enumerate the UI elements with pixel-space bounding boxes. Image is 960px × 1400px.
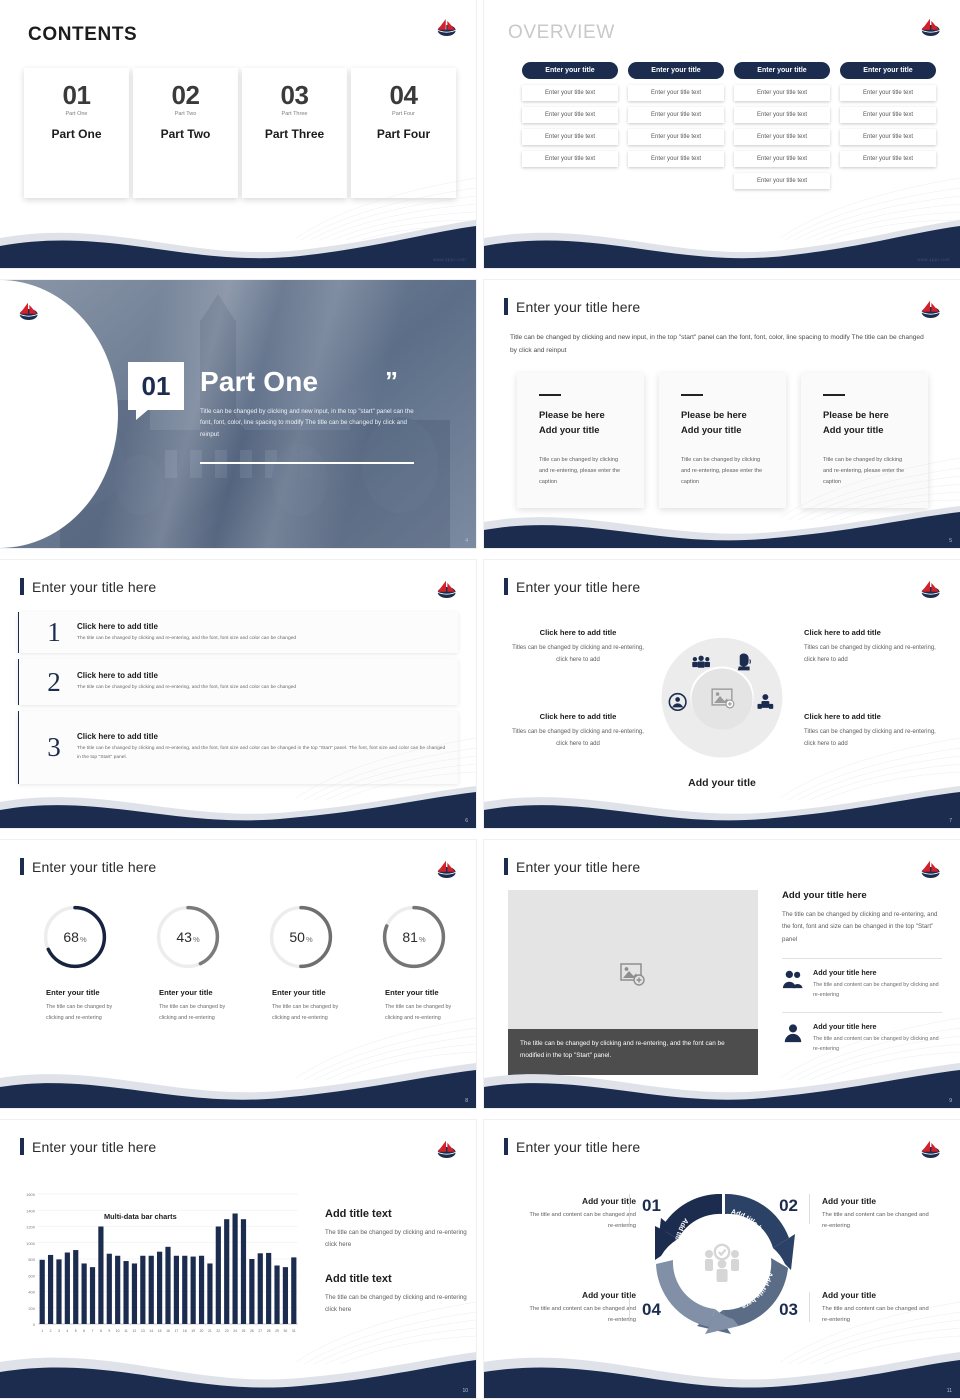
title-text: Enter your title here (32, 859, 156, 875)
x-axis-tick: 28 (267, 1329, 271, 1333)
part-description: Title can be changed by clicking and new… (200, 406, 416, 440)
x-axis-tick: 16 (166, 1329, 170, 1333)
x-axis-tick: 2 (50, 1329, 52, 1333)
sailing-ship-logo-icon (916, 16, 944, 38)
progress-ring: 50% (266, 902, 336, 972)
title-text: Enter your title here (516, 1139, 640, 1155)
title-text: Enter your title here (516, 299, 640, 315)
x-axis-tick: 5 (75, 1329, 77, 1333)
image-placeholder[interactable]: The title can be changed by clicking and… (508, 890, 758, 1075)
overview-column: Enter your title Enter your title text E… (628, 62, 724, 189)
bar (174, 1256, 179, 1324)
block-heading: Click here to add title (804, 628, 936, 637)
card-heading-1: Please be here (681, 408, 764, 423)
column-title-pill[interactable]: Enter your title (628, 62, 724, 79)
overview-item[interactable]: Enter your title text (522, 129, 618, 145)
item-desc: The title can be changed by clicking and… (77, 684, 446, 693)
title-text: Enter your title here (516, 859, 640, 875)
title-text: Enter your title here (32, 1139, 156, 1155)
card-subtitle: Part One (24, 111, 129, 117)
card-label: Part Two (133, 127, 238, 141)
title-text: Enter your title here (516, 579, 640, 595)
slide-numbered-list: Enter your title here 1 Click here to ad… (0, 560, 476, 828)
divider (629, 1292, 630, 1322)
gauge-value: 81% (379, 902, 449, 972)
y-axis-tick: 200 (28, 1306, 35, 1311)
bar (140, 1256, 145, 1324)
gauge-value: 50% (266, 902, 336, 972)
x-axis-tick: 23 (225, 1329, 229, 1333)
contents-card[interactable]: 04 Part Four Part Four (351, 68, 456, 198)
side-heading: Add title text (325, 1273, 471, 1285)
info-card[interactable]: Please be here Add your title Title can … (517, 373, 644, 508)
sailing-ship-logo-icon (432, 1138, 460, 1160)
bar (48, 1255, 53, 1324)
overview-item[interactable]: Enter your title text (840, 151, 936, 167)
overview-item[interactable]: Enter your title text (734, 151, 830, 167)
dash-icon (539, 394, 561, 396)
feature-item[interactable]: Add your title here The title and conten… (782, 1022, 942, 1054)
bar (40, 1260, 45, 1324)
gauge-cell[interactable]: 81% Enter your title The title can be ch… (361, 902, 467, 1023)
side-body: The title can be changed by clicking and… (325, 1292, 471, 1317)
feature-title: Add your title here (813, 1022, 942, 1031)
sailing-ship-logo-icon (916, 578, 944, 600)
y-axis-tick: 1000 (26, 1241, 36, 1246)
part-title: Part One (200, 366, 318, 398)
column-title-pill[interactable]: Enter your title (522, 62, 618, 79)
wave-decoration (0, 212, 476, 268)
page-number: 7 (949, 818, 952, 824)
block-body: Titles can be changed by clicking and re… (512, 642, 644, 667)
block-heading: Click here to add title (804, 712, 936, 721)
block-body: Titles can be changed by clicking and re… (804, 726, 936, 751)
cycle-number: 02 (779, 1196, 798, 1216)
bar (132, 1263, 137, 1324)
gauge-desc: The title can be changed by clicking and… (361, 1002, 467, 1023)
wave-decoration (0, 1346, 476, 1398)
page-number: 10 (462, 1388, 468, 1394)
right-panel: Add your title here The title can be cha… (782, 890, 942, 1054)
divider (809, 1292, 810, 1322)
gauge-value: 43% (153, 902, 223, 972)
bar (56, 1259, 61, 1324)
bar (123, 1261, 128, 1324)
x-axis-tick: 10 (116, 1329, 120, 1333)
overview-item[interactable]: Enter your title text (734, 129, 830, 145)
two-people-icon (782, 968, 804, 990)
progress-ring: 43% (153, 902, 223, 972)
wave-decoration (484, 502, 960, 548)
page-number: 11 (947, 1388, 952, 1394)
cycle-number: 04 (642, 1300, 661, 1320)
x-axis-tick: 4 (66, 1329, 68, 1333)
card-heading-2: Add your title (539, 423, 622, 438)
contents-card-list: 01 Part One Part One 02 Part Two Part Tw… (24, 68, 456, 198)
contents-card[interactable]: 03 Part Three Part Three (242, 68, 347, 198)
page-title: Enter your title here (504, 858, 640, 875)
bar (82, 1263, 87, 1324)
sailing-ship-logo-icon (916, 1138, 944, 1160)
card-label: Part One (24, 127, 129, 141)
bar (224, 1219, 229, 1324)
item-title: Click here to add title (77, 732, 446, 741)
overview-item[interactable]: Enter your title text (628, 85, 724, 101)
overview-item[interactable]: Enter your title text (734, 173, 830, 189)
item-desc: The title can be changed by clicking and… (77, 745, 446, 763)
x-axis-tick: 15 (158, 1329, 162, 1333)
page-title: Enter your title here (504, 1138, 640, 1155)
bar (149, 1256, 154, 1324)
card-number: 02 (133, 82, 238, 108)
x-axis-tick: 29 (275, 1329, 279, 1333)
card-label: Part Three (242, 127, 347, 141)
title-accent-bar (20, 578, 24, 595)
slide-percent-gauges: Enter your title here 68% Enter your tit… (0, 840, 476, 1108)
item-number: 2 (31, 669, 77, 696)
page-title: Enter your title here (20, 578, 156, 595)
gauge-heading: Enter your title (248, 988, 354, 997)
gauge-cell[interactable]: 50% Enter your title The title can be ch… (248, 902, 354, 1023)
feature-desc: The title and content can be changed by … (813, 980, 942, 1000)
card-number: 01 (24, 82, 129, 108)
bar (258, 1253, 263, 1324)
card-heading-2: Add your title (681, 423, 764, 438)
divider-rule (200, 462, 414, 464)
list-container: 1 Click here to add title The title can … (18, 612, 458, 790)
x-axis-tick: 21 (208, 1329, 212, 1333)
bar (241, 1219, 246, 1324)
single-person-icon (782, 1022, 804, 1044)
slide-deck: CONTENTS 01 Part One Part One 02 Part Tw… (0, 0, 960, 1400)
block-heading: Add your title (822, 1290, 934, 1300)
page-title: Enter your title here (20, 1138, 156, 1155)
overview-grid: Enter your title Enter your title text E… (522, 62, 936, 189)
gauge-cell[interactable]: 43% Enter your title The title can be ch… (135, 902, 241, 1023)
bar (107, 1254, 112, 1324)
page-title: CONTENTS (28, 24, 137, 46)
donut-text-block[interactable]: Click here to add title Titles can be ch… (512, 628, 644, 667)
bar (199, 1256, 204, 1324)
overview-item[interactable]: Enter your title text (628, 129, 724, 145)
overview-item[interactable]: Enter your title text (522, 151, 618, 167)
feature-title: Add your title here (813, 968, 942, 977)
bar (283, 1267, 288, 1324)
slide-arrow-cycle: Enter your title here (484, 1120, 960, 1398)
slide-bar-chart: Enter your title here Multi-data bar cha… (0, 1120, 476, 1398)
title-accent-bar (20, 858, 24, 875)
wave-decoration (484, 212, 960, 268)
side-heading: Add title text (325, 1208, 471, 1220)
y-axis-tick: 400 (28, 1290, 35, 1295)
feature-item[interactable]: Add your title here The title and conten… (782, 968, 942, 1000)
sailing-ship-logo-icon (14, 300, 42, 322)
block-heading: Add your title (822, 1196, 934, 1206)
x-axis-tick: 3 (58, 1329, 60, 1333)
item-title: Click here to add title (77, 671, 446, 680)
list-item[interactable]: 3 Click here to add title The title can … (18, 711, 458, 784)
block-body: The title and content can be changed and… (822, 1304, 934, 1326)
overview-item[interactable]: Enter your title text (628, 151, 724, 167)
divider (629, 1194, 630, 1224)
bar (65, 1253, 70, 1325)
page-title: OVERVIEW (508, 22, 615, 44)
block-heading: Click here to add title (512, 628, 644, 637)
block-body: The title and content can be changed and… (524, 1304, 636, 1326)
x-axis-tick: 25 (242, 1329, 246, 1333)
slide-image-text: Enter your title here The title can be c… (484, 840, 960, 1108)
overview-item[interactable]: Enter your title text (734, 107, 830, 123)
image-placeholder-icon (620, 962, 646, 988)
card-list: Please be here Add your title Title can … (517, 373, 928, 508)
bar (216, 1227, 221, 1325)
item-number: 3 (31, 734, 77, 761)
bar (157, 1252, 162, 1324)
progress-ring: 81% (379, 902, 449, 972)
title-accent-bar (504, 858, 508, 875)
x-axis-tick: 30 (284, 1329, 288, 1333)
title-accent-bar (504, 298, 508, 315)
page-title: Enter your title here (20, 858, 156, 875)
x-axis-tick: 12 (133, 1329, 137, 1333)
donut-center-label: Add your title (688, 777, 756, 789)
page-title: Enter your title here (504, 578, 640, 595)
cycle-number: 01 (642, 1196, 661, 1216)
card-body: Title can be changed by clicking and re-… (681, 455, 764, 488)
column-title-pill[interactable]: Enter your title (840, 62, 936, 79)
contents-card[interactable]: 01 Part One Part One (24, 68, 129, 198)
cycle-text-block[interactable]: Add your title The title and content can… (822, 1196, 934, 1232)
title-text: Enter your title here (32, 579, 156, 595)
x-axis-tick: 9 (108, 1329, 110, 1333)
overview-column: Enter your title Enter your title text E… (522, 62, 618, 189)
list-item[interactable]: 2 Click here to add title The title can … (18, 659, 458, 705)
slide-donut-segments: Enter your title here (484, 560, 960, 828)
arrow-cycle-diagram: Add title here Add title here Add title … (647, 1186, 797, 1336)
overview-item[interactable]: Enter your title text (628, 107, 724, 123)
gauge-value: 68% (40, 902, 110, 972)
block-body: Titles can be changed by clicking and re… (512, 726, 644, 751)
donut-text-block[interactable]: Click here to add title Titles can be ch… (804, 628, 936, 667)
y-axis-tick: 0 (33, 1322, 36, 1327)
watermark: www.1ppt.com (433, 257, 466, 262)
overview-item[interactable]: Enter your title text (522, 107, 618, 123)
info-card[interactable]: Please be here Add your title Title can … (659, 373, 786, 508)
overview-column: Enter your title Enter your title text E… (840, 62, 936, 189)
gauge-heading: Enter your title (135, 988, 241, 997)
lead-paragraph: Title can be changed by clicking and new… (510, 332, 930, 358)
title-accent-bar (20, 1138, 24, 1155)
bar (115, 1256, 120, 1324)
card-subtitle: Part Three (242, 111, 347, 117)
x-axis-tick: 27 (258, 1329, 262, 1333)
slide-overview: OVERVIEW Enter your title Enter your tit… (484, 0, 960, 268)
chart-side-text: Add title text The title can be changed … (325, 1208, 471, 1317)
x-axis-tick: 6 (83, 1329, 85, 1333)
wave-decoration (484, 1346, 960, 1398)
image-caption: The title can be changed by clicking and… (508, 1029, 758, 1075)
side-body: The title can be changed by clicking and… (325, 1227, 471, 1252)
card-heading-1: Please be here (823, 408, 906, 423)
block-heading: Add your title (524, 1290, 636, 1300)
gauge-desc: The title can be changed by clicking and… (135, 1002, 241, 1023)
x-axis-tick: 1 (41, 1329, 43, 1333)
bar (207, 1263, 212, 1324)
block-body: The title and content can be changed and… (822, 1210, 934, 1232)
bar (191, 1257, 196, 1324)
card-heading-1: Please be here (539, 408, 622, 423)
bar (73, 1250, 78, 1324)
sailing-ship-logo-icon (432, 16, 460, 38)
column-title-pill[interactable]: Enter your title (734, 62, 830, 79)
divider (782, 1012, 942, 1013)
page-number: 4 (465, 538, 468, 544)
dash-icon (681, 394, 703, 396)
gauge-heading: Enter your title (361, 988, 467, 997)
card-number: 03 (242, 82, 347, 108)
x-axis-tick: 17 (174, 1329, 178, 1333)
x-axis-tick: 22 (216, 1329, 220, 1333)
bar (165, 1247, 170, 1324)
overview-item[interactable]: Enter your title text (734, 85, 830, 101)
overview-item[interactable]: Enter your title text (522, 85, 618, 101)
y-axis-tick: 1400 (26, 1208, 36, 1213)
gauge-desc: The title can be changed by clicking and… (248, 1002, 354, 1023)
card-subtitle: Part Two (133, 111, 238, 117)
x-axis-tick: 7 (92, 1329, 94, 1333)
bar (249, 1259, 254, 1324)
overview-column: Enter your title Enter your title text E… (734, 62, 830, 189)
divider (809, 1194, 810, 1224)
page-number: 5 (949, 538, 952, 544)
overview-item[interactable]: Enter your title text (840, 129, 936, 145)
quote-mark-icon: ” (385, 366, 398, 397)
y-axis-tick: 600 (28, 1273, 35, 1278)
cycle-text-block[interactable]: Add your title The title and content can… (822, 1290, 934, 1326)
watermark: www.1ppt.com (917, 257, 950, 262)
y-axis-tick: 800 (28, 1257, 35, 1262)
title-accent-bar (504, 1138, 508, 1155)
card-subtitle: Part Four (351, 111, 456, 117)
x-axis-tick: 11 (124, 1329, 128, 1333)
wave-decoration (0, 1060, 476, 1108)
overview-item[interactable]: Enter your title text (840, 107, 936, 123)
title-accent-bar (504, 578, 508, 595)
slide-contents: CONTENTS 01 Part One Part One 02 Part Tw… (0, 0, 476, 268)
sailing-ship-logo-icon (916, 858, 944, 880)
slide-three-cards: Enter your title here Title can be chang… (484, 280, 960, 548)
item-title: Click here to add title (77, 622, 446, 631)
block-body: Titles can be changed by clicking and re… (804, 642, 936, 667)
sailing-ship-logo-icon (432, 858, 460, 880)
block-body: The title and content can be changed and… (524, 1210, 636, 1232)
item-number: 1 (31, 619, 77, 646)
bar (266, 1253, 271, 1324)
block-heading: Add your title (524, 1196, 636, 1206)
card-number: 04 (351, 82, 456, 108)
slide-part-one-cover: 01 Part One ” Title can be changed by cl… (0, 280, 476, 548)
list-item[interactable]: 1 Click here to add title The title can … (18, 612, 458, 653)
block-heading: Click here to add title (512, 712, 644, 721)
panel-body: The title can be changed by clicking and… (782, 909, 942, 946)
x-axis-tick: 19 (191, 1329, 195, 1333)
page-number: 9 (949, 1098, 952, 1104)
x-axis-tick: 18 (183, 1329, 187, 1333)
bar-chart: Multi-data bar charts 020040060080010001… (12, 1172, 302, 1342)
panel-heading: Add your title here (782, 890, 942, 901)
x-axis-tick: 31 (292, 1329, 296, 1333)
bar (98, 1227, 103, 1325)
bar (274, 1266, 279, 1325)
part-number-badge: 01 (128, 362, 184, 410)
donut-diagram (653, 630, 791, 768)
x-axis-tick: 8 (100, 1329, 102, 1333)
bar (232, 1214, 237, 1325)
donut-text-block[interactable]: Click here to add title Titles can be ch… (804, 712, 936, 751)
card-label: Part Four (351, 127, 456, 141)
x-axis-tick: 26 (250, 1329, 254, 1333)
cycle-number: 03 (779, 1300, 798, 1320)
item-desc: The title can be changed by clicking and… (77, 635, 446, 644)
info-card[interactable]: Please be here Add your title Title can … (801, 373, 928, 508)
page-number: 8 (465, 1098, 468, 1104)
dash-icon (823, 394, 845, 396)
bar (90, 1267, 95, 1324)
gauge-desc: The title can be changed by clicking and… (22, 1002, 128, 1023)
page-title: Enter your title here (504, 298, 640, 315)
gauge-heading: Enter your title (22, 988, 128, 997)
donut-text-block[interactable]: Click here to add title Titles can be ch… (512, 712, 644, 751)
chart-canvas: 0200400600800100012001400160012345678910… (12, 1190, 302, 1340)
overview-item[interactable]: Enter your title text (840, 85, 936, 101)
contents-card[interactable]: 02 Part Two Part Two (133, 68, 238, 198)
gauge-cell[interactable]: 68% Enter your title The title can be ch… (22, 902, 128, 1023)
card-body: Title can be changed by clicking and re-… (823, 455, 906, 488)
feature-desc: The title and content can be changed by … (813, 1034, 942, 1054)
cycle-text-block[interactable]: Add your title The title and content can… (524, 1290, 636, 1326)
divider (782, 958, 942, 959)
y-axis-tick: 1600 (26, 1192, 36, 1197)
x-axis-tick: 14 (149, 1329, 153, 1333)
progress-ring: 68% (40, 902, 110, 972)
bar (291, 1257, 296, 1324)
sailing-ship-logo-icon (916, 298, 944, 320)
sailing-ship-logo-icon (432, 578, 460, 600)
cycle-text-block[interactable]: Add your title The title and content can… (524, 1196, 636, 1232)
x-axis-tick: 13 (141, 1329, 145, 1333)
y-axis-tick: 1200 (26, 1225, 36, 1230)
bar (182, 1256, 187, 1324)
gauge-row: 68% Enter your title The title can be ch… (22, 902, 467, 1023)
card-body: Title can be changed by clicking and re-… (539, 455, 622, 488)
card-heading-2: Add your title (823, 423, 906, 438)
page-number: 6 (465, 818, 468, 824)
x-axis-tick: 20 (200, 1329, 204, 1333)
x-axis-tick: 24 (233, 1329, 237, 1333)
